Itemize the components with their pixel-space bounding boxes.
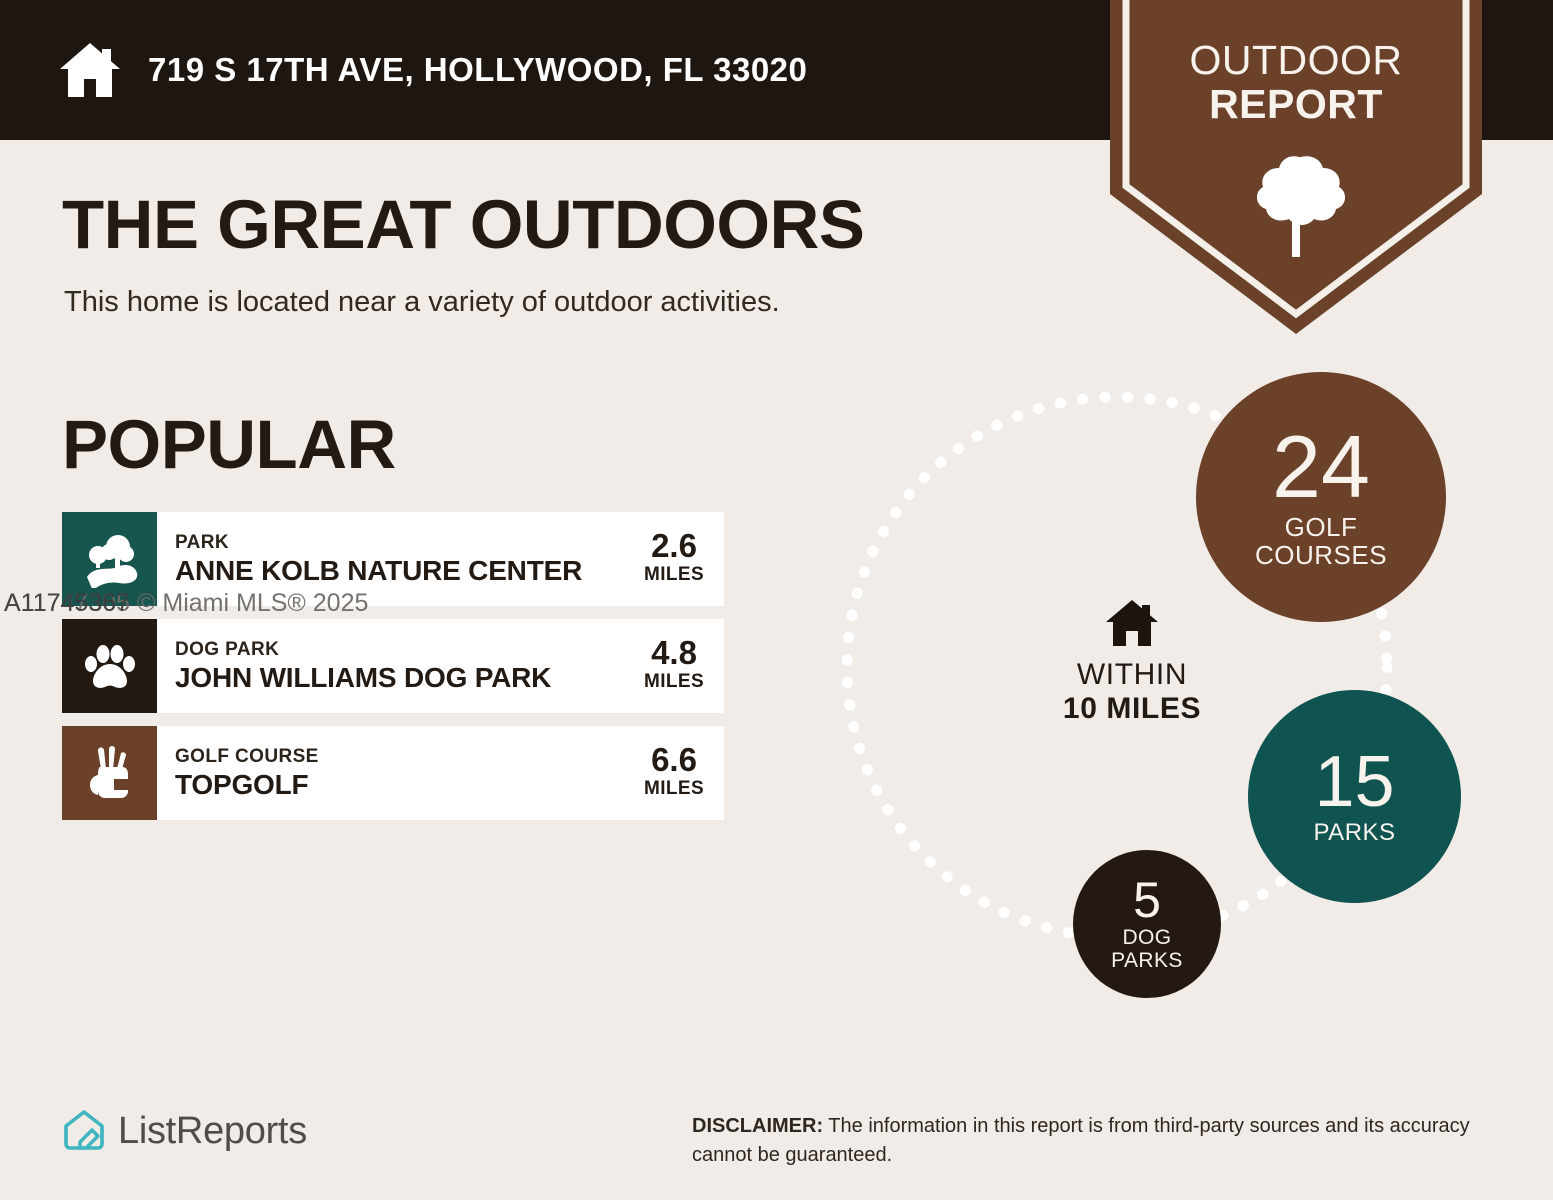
center-label-line1: WITHIN (1032, 658, 1232, 692)
watermark-id-b: A11745367 (4, 589, 130, 618)
poi-distance-unit: MILES (638, 669, 710, 696)
poi-icon-tile (62, 619, 157, 713)
poi-body: GOLF COURSE TOPGOLF 6.6 MILES (157, 726, 724, 820)
list-item[interactable]: GOLF COURSE TOPGOLF 6.6 MILES (62, 726, 724, 820)
list-item[interactable]: DOG PARK JOHN WILLIAMS DOG PARK 4.8 MILE… (62, 619, 724, 713)
poi-text: PARK ANNE KOLB NATURE CENTER (175, 531, 582, 587)
listreports-logo[interactable]: ListReports (62, 1108, 307, 1154)
section-title-popular: POPULAR (62, 405, 396, 484)
park-trees-icon (81, 530, 139, 588)
poi-distance-unit: MILES (638, 562, 710, 589)
stat-label-line1: PARKS (1313, 820, 1395, 846)
poi-distance: 6.6 MILES (630, 743, 710, 803)
disclaimer: DISCLAIMER: The information in this repo… (692, 1112, 1492, 1170)
poi-text: GOLF COURSE TOPGOLF (175, 745, 319, 801)
stat-label-line2: PARKS (1111, 949, 1183, 972)
stat-value: 24 (1272, 424, 1370, 510)
poi-icon-tile (62, 726, 157, 820)
listreports-house-icon (62, 1108, 106, 1154)
stat-value: 15 (1314, 747, 1394, 818)
home-icon (58, 41, 122, 99)
watermark-ids: A11747305 A11745367 (4, 589, 137, 617)
poi-distance-value: 2.6 (638, 529, 710, 562)
within-10-miles-diagram: WITHIN 10 MILES 24 GOLF COURSES 15 PARKS… (820, 350, 1520, 1050)
poi-name: TOPGOLF (175, 769, 319, 801)
listreports-logo-text: ListReports (118, 1110, 307, 1153)
home-icon (1032, 598, 1232, 648)
stat-label-line1: DOG (1122, 926, 1171, 949)
poi-distance-unit: MILES (638, 776, 710, 803)
golf-bag-icon (84, 745, 136, 801)
disclaimer-label: DISCLAIMER: (692, 1115, 823, 1137)
stat-label-line1: GOLF (1285, 513, 1358, 542)
outdoor-report-badge: OUTDOOR REPORT (1110, 0, 1482, 334)
header-content: 719 S 17TH AVE, HOLLYWOOD, FL 33020 (58, 0, 807, 140)
poi-category: GOLF COURSE (175, 745, 319, 769)
poi-name: JOHN WILLIAMS DOG PARK (175, 662, 551, 694)
center-label-line2: 10 MILES (1032, 692, 1232, 726)
diagram-center: WITHIN 10 MILES (1032, 598, 1232, 725)
poi-category: DOG PARK (175, 638, 551, 662)
stat-circle-dog-parks[interactable]: 5 DOG PARKS (1073, 850, 1221, 998)
poi-category: PARK (175, 531, 582, 555)
poi-distance-value: 4.8 (638, 636, 710, 669)
paw-print-icon (83, 639, 137, 693)
popular-list: PARK ANNE KOLB NATURE CENTER 2.6 MILES (62, 512, 724, 833)
poi-distance: 2.6 MILES (630, 529, 710, 589)
poi-body: DOG PARK JOHN WILLIAMS DOG PARK 4.8 MILE… (157, 619, 724, 713)
watermark-suffix: © Miami MLS® 2025 (137, 589, 368, 617)
page-title: THE GREAT OUTDOORS (62, 185, 864, 264)
poi-distance: 4.8 MILES (630, 636, 710, 696)
mls-watermark: A11747305 A11745367 © Miami MLS® 2025 (4, 589, 368, 618)
stat-label-line2: COURSES (1255, 541, 1387, 570)
stat-circle-parks[interactable]: 15 PARKS (1248, 690, 1461, 903)
stat-circle-golf-courses[interactable]: 24 GOLF COURSES (1196, 372, 1446, 622)
page-subtitle: This home is located near a variety of o… (64, 286, 780, 319)
poi-text: DOG PARK JOHN WILLIAMS DOG PARK (175, 638, 551, 694)
stat-value: 5 (1133, 876, 1161, 925)
poi-distance-value: 6.6 (638, 743, 710, 776)
outdoor-report-page: 719 S 17TH AVE, HOLLYWOOD, FL 33020 OUTD… (0, 0, 1553, 1200)
poi-name: ANNE KOLB NATURE CENTER (175, 555, 582, 587)
property-address: 719 S 17TH AVE, HOLLYWOOD, FL 33020 (148, 51, 807, 89)
